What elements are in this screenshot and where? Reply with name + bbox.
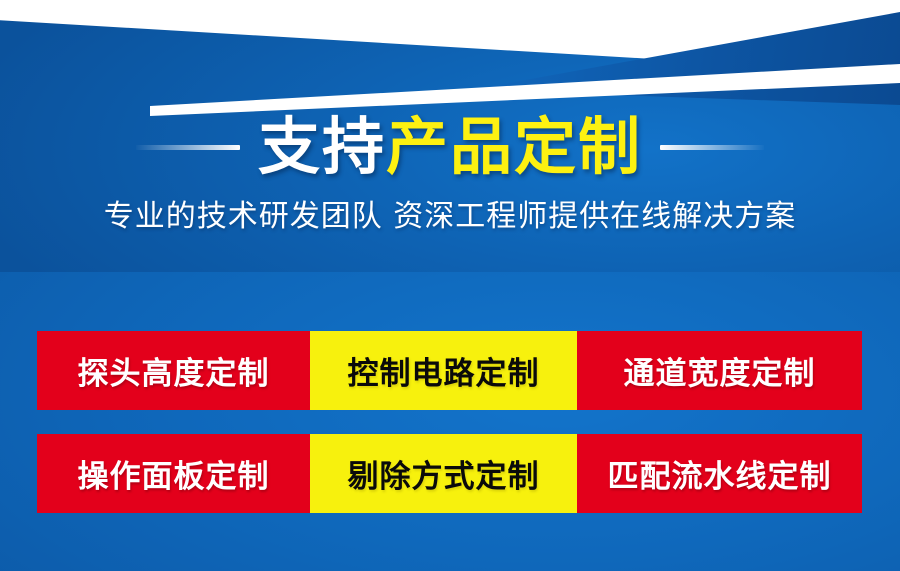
chip-probe-height[interactable]: 探头高度定制 — [37, 331, 310, 410]
chip-rejection-method[interactable]: 剔除方式定制 — [310, 434, 577, 513]
chip-channel-width[interactable]: 通道宽度定制 — [577, 331, 862, 410]
title-rule-right-icon — [660, 145, 764, 150]
chip-control-panel[interactable]: 操作面板定制 — [37, 434, 310, 513]
page-subtitle: 专业的技术研发团队 资深工程师提供在线解决方案 — [0, 199, 900, 235]
page-title: 支持产品定制 — [258, 116, 642, 178]
page-title-row: 支持产品定制 — [0, 102, 900, 192]
title-rule-left-icon — [136, 145, 240, 150]
page-title-highlight: 产品定制 — [386, 110, 642, 183]
customization-chip-grid: 探头高度定制 控制电路定制 通道宽度定制 操作面板定制 剔除方式定制 匹配流水线… — [37, 331, 862, 513]
chip-conveyor-matching[interactable]: 匹配流水线定制 — [577, 434, 862, 513]
chip-row: 探头高度定制 控制电路定制 通道宽度定制 — [37, 331, 862, 410]
chip-control-circuit[interactable]: 控制电路定制 — [310, 331, 577, 410]
chip-row: 操作面板定制 剔除方式定制 匹配流水线定制 — [37, 434, 862, 513]
page-title-primary: 支持 — [258, 110, 386, 183]
customization-poster: 支持产品定制 专业的技术研发团队 资深工程师提供在线解决方案 探头高度定制 控制… — [0, 0, 900, 571]
